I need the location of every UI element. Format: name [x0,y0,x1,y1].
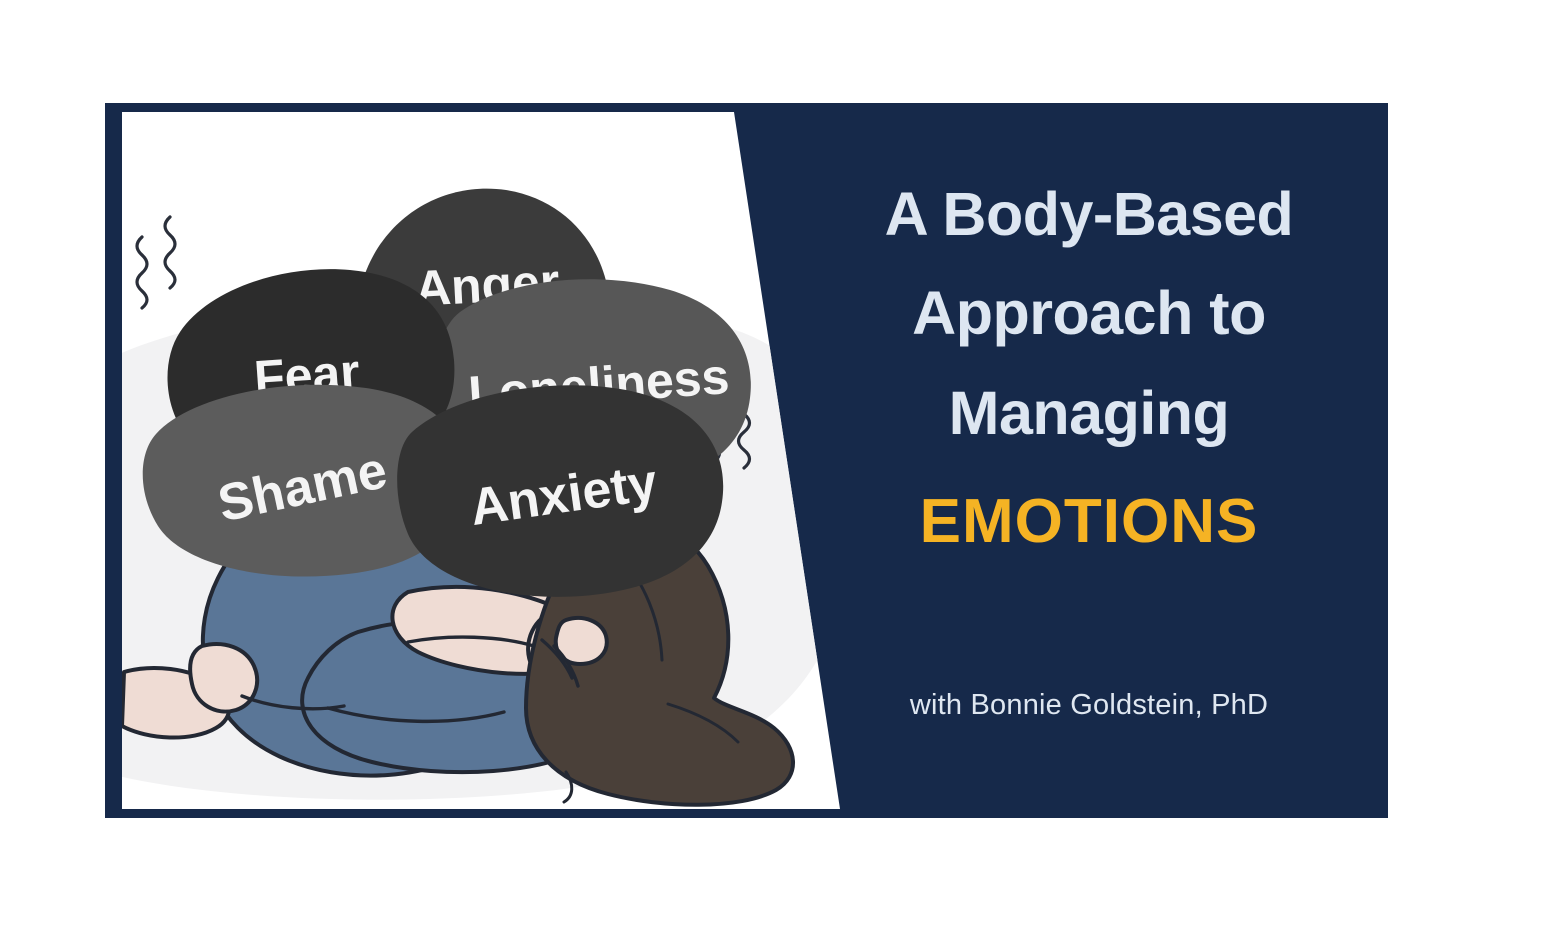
squiggle-left-group [137,217,175,308]
headline-emphasis: EMOTIONS [805,471,1373,572]
headline-line-1: A Body-Based [805,165,1373,264]
emotion-blob-anxiety: Anxiety [397,385,723,597]
figure-ankle [190,644,257,712]
headline-line-3: Managing [805,364,1373,463]
squiggle-icon [137,237,147,308]
illustration-panel: Anger Loneliness Fear Shame Anxiety [122,112,840,809]
presenter-byline: with Bonnie Goldstein, PhD [805,689,1373,722]
headline-line-2: Approach to [805,264,1373,363]
promo-card: Anger Loneliness Fear Shame Anxiety [105,103,1388,818]
page-title: A Body-Based Approach to Managing EMOTIO… [805,165,1373,572]
emotions-illustration: Anger Loneliness Fear Shame Anxiety [122,112,840,809]
text-column: A Body-Based Approach to Managing EMOTIO… [805,143,1373,803]
squiggle-icon [165,217,175,288]
